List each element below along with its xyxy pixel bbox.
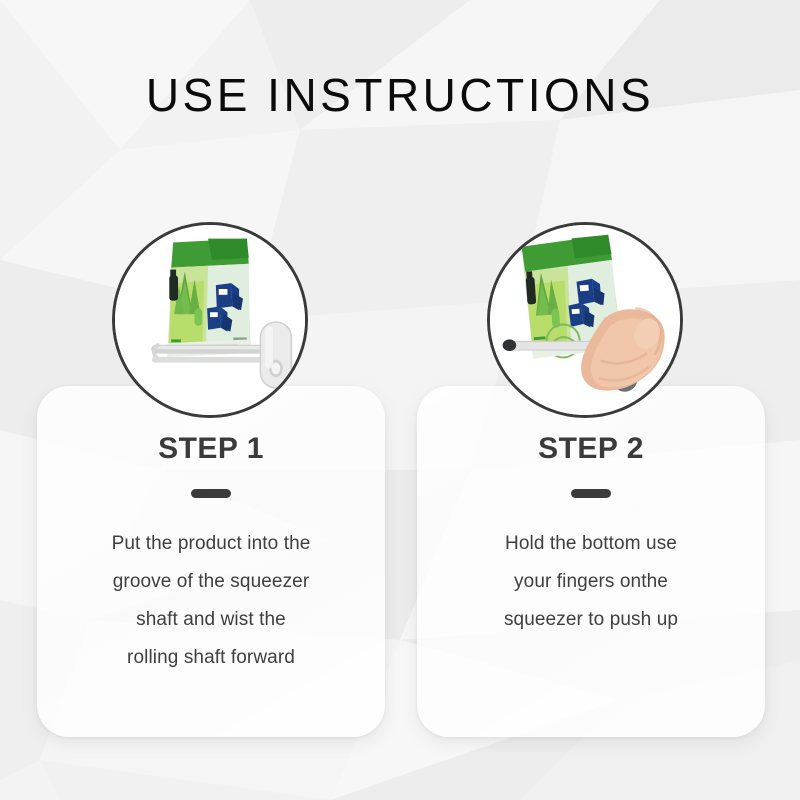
step-2-photo-circle <box>487 222 683 418</box>
step-1-line-3: shaft and wist the <box>75 601 347 639</box>
step-2-card: STEP 2 Hold the bottom use your fingers … <box>417 386 765 737</box>
step-2-product-illustration <box>490 225 680 415</box>
step-cards-container: STEP 1 Put the product into the groove o… <box>37 386 765 737</box>
step-2-title: STEP 2 <box>417 434 765 464</box>
step-1-product-illustration <box>115 225 305 415</box>
page-title: USE INSTRUCTIONS <box>0 70 800 121</box>
step-1-title: STEP 1 <box>37 434 385 464</box>
step-1-line-2: groove of the squeezer <box>75 563 347 601</box>
step-2-line-2: your fingers onthe <box>455 563 727 601</box>
step-1-description: Put the product into the groove of the s… <box>75 525 347 677</box>
instructions-page: USE INSTRUCTIONS <box>0 0 800 800</box>
step-1-divider <box>191 489 231 498</box>
step-2-divider <box>571 489 611 498</box>
step-2-line-1: Hold the bottom use <box>455 525 727 563</box>
step-1-photo-circle <box>112 222 308 418</box>
step-1-line-1: Put the product into the <box>75 525 347 563</box>
step-2-description: Hold the bottom use your fingers onthe s… <box>455 525 727 639</box>
step-1-card: STEP 1 Put the product into the groove o… <box>37 386 385 737</box>
step-2-line-3: squeezer to push up <box>455 601 727 639</box>
step-1-line-4: rolling shaft forward <box>75 639 347 677</box>
